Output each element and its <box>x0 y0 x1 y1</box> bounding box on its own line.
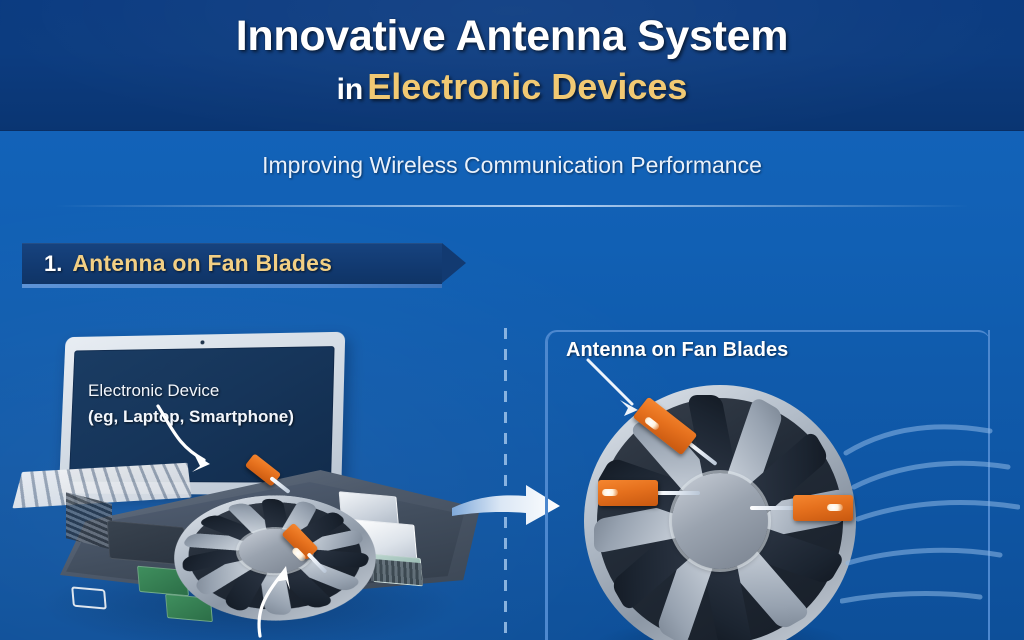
section-number: 1. <box>44 251 62 277</box>
right-antenna-module-right <box>793 495 853 521</box>
right-antenna-glow-left <box>602 489 618 496</box>
curved-pointer-arrow-icon-2 <box>230 540 310 640</box>
header-band: Innovative Antenna System inElectronic D… <box>0 0 1024 131</box>
chassis-port <box>71 586 107 609</box>
right-antenna-wire-left <box>656 491 700 495</box>
subtitle-divider <box>54 205 970 207</box>
page-title-highlight: Electronic Devices <box>367 66 687 107</box>
webcam-dot-icon <box>200 340 204 344</box>
infographic-canvas: Innovative Antenna System inElectronic D… <box>0 0 1024 640</box>
right-antenna-wire-right <box>750 506 796 510</box>
right-antenna-glow-right <box>827 504 843 511</box>
page-title-line2: inElectronic Devices <box>0 66 1024 108</box>
right-fan-hub <box>672 473 768 569</box>
airflow-lines-icon <box>840 395 1020 640</box>
curved-pointer-arrow-icon <box>148 402 238 484</box>
chassis-side-vents <box>66 492 112 549</box>
section-banner: 1. Antenna on Fan Blades <box>22 243 442 284</box>
section-banner-underline <box>22 284 442 288</box>
page-title-prefix: in <box>337 73 364 106</box>
section-banner-ribbon-tail <box>442 243 466 283</box>
page-subtitle: Improving Wireless Communication Perform… <box>0 152 1024 179</box>
section-title: Antenna on Fan Blades <box>72 250 332 277</box>
page-title-line1: Innovative Antenna System <box>0 12 1024 61</box>
